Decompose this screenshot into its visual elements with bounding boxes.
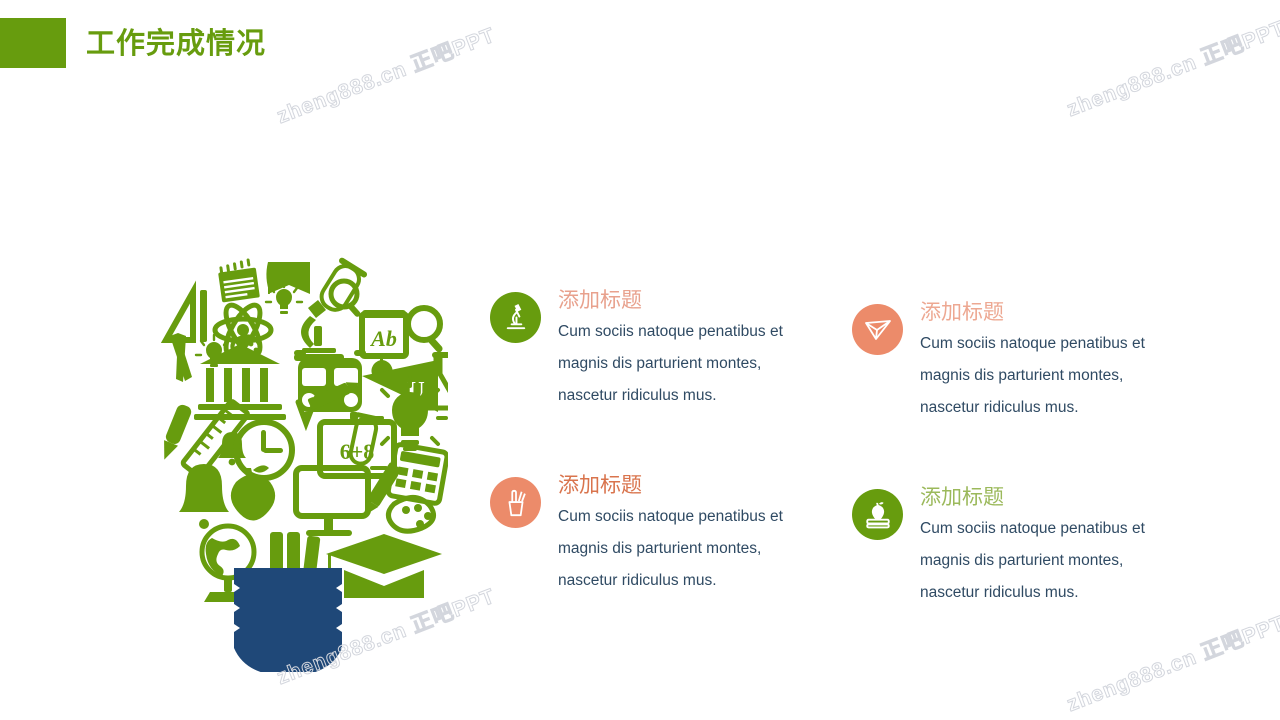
ab-book-icon: Ab xyxy=(362,310,406,356)
palette-icon xyxy=(388,497,433,531)
microscope-icon xyxy=(500,302,531,333)
info-item-1[interactable]: 添加标题 Cum sociis natoque penatibus et mag… xyxy=(490,288,820,412)
info-item-1-body: 添加标题 Cum sociis natoque penatibus et mag… xyxy=(558,288,820,412)
watermark: zheng888.cn 正吧PPT xyxy=(272,19,499,130)
watermark: zheng888.cn 正吧PPT xyxy=(1062,12,1280,123)
svg-text:Ab: Ab xyxy=(369,326,397,351)
info-item-3[interactable]: 添加标题 Cum sociis natoque penatibus et mag… xyxy=(490,473,820,597)
info-item-4-title: 添加标题 xyxy=(920,485,1182,511)
lightbulb-education-graphic: Ab xyxy=(148,252,448,672)
info-item-1-title: 添加标题 xyxy=(558,288,820,314)
info-item-1-description: Cum sociis natoque penatibus et magnis d… xyxy=(558,316,820,412)
info-item-3-description: Cum sociis natoque penatibus et magnis d… xyxy=(558,501,820,597)
paper-plane-icon-circle[interactable] xyxy=(852,304,903,355)
page-title: 工作完成情况 xyxy=(86,24,266,64)
info-item-2-title: 添加标题 xyxy=(920,300,1182,326)
school-bell-icon xyxy=(179,464,229,529)
info-item-4-description: Cum sociis natoque penatibus et magnis d… xyxy=(920,513,1182,609)
info-item-2-body: 添加标题 Cum sociis natoque penatibus et mag… xyxy=(920,300,1182,424)
info-items-grid: 添加标题 Cum sociis natoque penatibus et mag… xyxy=(490,288,1190,648)
magnifier-large-icon xyxy=(408,308,444,354)
paper-plane-icon xyxy=(862,314,894,346)
info-item-3-body: 添加标题 Cum sociis natoque penatibus et mag… xyxy=(558,473,820,597)
apple-on-book-icon xyxy=(863,500,893,530)
info-item-4[interactable]: 添加标题 Cum sociis natoque penatibus et mag… xyxy=(852,485,1182,609)
triangle-ruler-icon xyxy=(166,290,207,342)
info-item-2[interactable]: 添加标题 Cum sociis natoque penatibus et mag… xyxy=(852,300,1182,424)
pencil-cup-icon-circle[interactable] xyxy=(490,477,541,528)
microscope-icon-circle[interactable] xyxy=(490,292,541,343)
lightbulb-base xyxy=(234,568,342,672)
apple-on-book-icon-circle[interactable] xyxy=(852,489,903,540)
header-accent-block xyxy=(0,18,66,68)
info-item-4-body: 添加标题 Cum sociis natoque penatibus et mag… xyxy=(920,485,1182,609)
info-item-3-title: 添加标题 xyxy=(558,473,820,499)
notepad-icon xyxy=(218,258,260,302)
pencil-cup-icon xyxy=(501,488,531,518)
info-item-2-description: Cum sociis natoque penatibus et magnis d… xyxy=(920,328,1182,424)
graduation-cap-icon xyxy=(326,534,443,598)
